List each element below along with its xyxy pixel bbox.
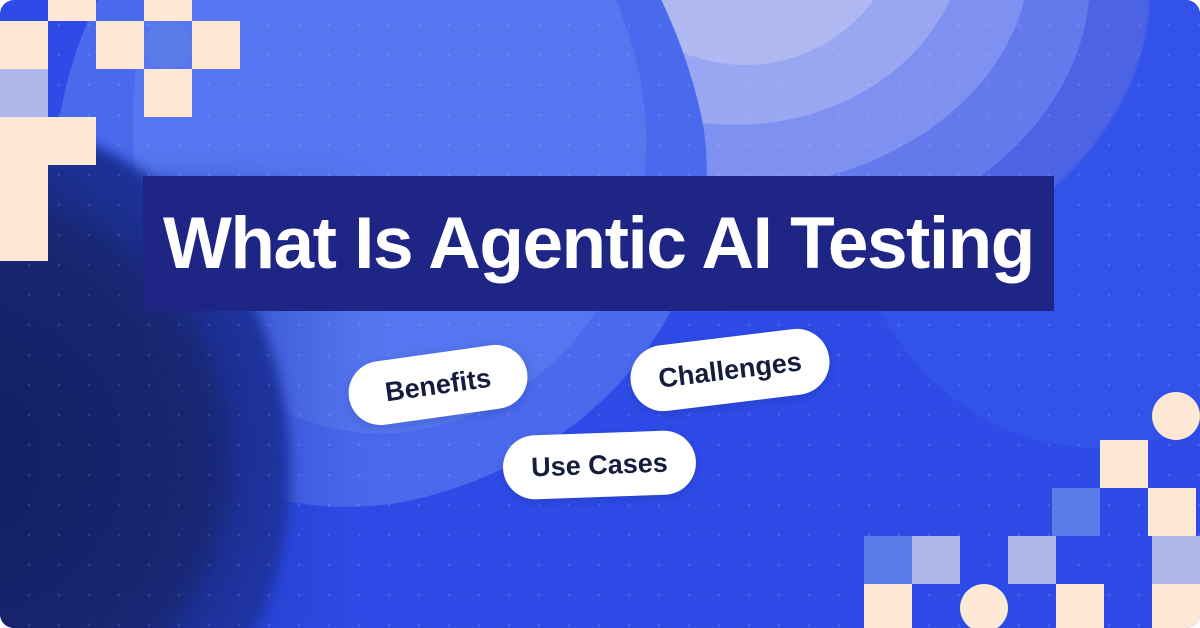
checker-cell — [1148, 488, 1196, 536]
checker-cell — [48, 0, 96, 21]
checker-cell — [864, 584, 912, 628]
checker-cell — [1052, 488, 1100, 536]
title-banner: What Is Agentic AI Testing — [143, 176, 1054, 311]
pill-challenges-label: Challenges — [657, 346, 804, 394]
checker-cell — [0, 69, 48, 117]
checker-cell — [48, 117, 96, 165]
circle-icon — [960, 584, 1008, 628]
checker-cell — [1152, 584, 1200, 628]
checker-cell — [864, 536, 912, 584]
checker-cell — [0, 117, 48, 165]
pill-benefits-label: Benefits — [383, 362, 493, 408]
checker-cell — [912, 536, 960, 584]
checker-cell — [0, 21, 48, 69]
checker-cell — [0, 213, 48, 261]
checker-cell — [1152, 536, 1200, 584]
checker-cell — [144, 0, 192, 21]
checker-cell — [0, 165, 48, 213]
checker-cell — [144, 69, 192, 117]
pill-use-cases-label: Use Cases — [531, 447, 669, 483]
pill-use-cases[interactable]: Use Cases — [502, 430, 697, 501]
hero-banner-graphic: What Is Agentic AI Testing Benefits Chal… — [0, 0, 1200, 628]
checker-cell — [192, 21, 240, 69]
checker-cell — [1008, 536, 1056, 584]
checker-cell — [1100, 440, 1148, 488]
circle-icon — [144, 21, 192, 69]
circle-icon — [1152, 392, 1200, 440]
checker-cell — [96, 21, 144, 69]
checker-cell — [1056, 584, 1104, 628]
page-title: What Is Agentic AI Testing — [163, 207, 1034, 280]
